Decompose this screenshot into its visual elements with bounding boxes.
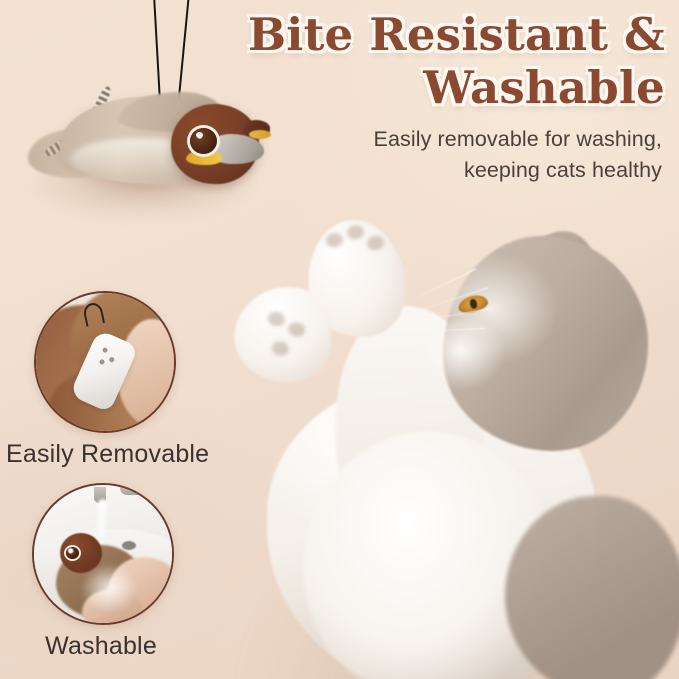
feature-image-washable: [32, 483, 174, 625]
subheadline-line-2: keeping cats healthy: [262, 155, 662, 186]
headline-line-2: Washable: [195, 62, 665, 115]
sink-drain: [122, 541, 136, 550]
product-feature-banner: Bite Resistant & Washable Easily removab…: [0, 0, 679, 679]
water-splash: [80, 563, 138, 613]
subheadline-line-1: Easily removable for washing,: [374, 127, 663, 151]
cat-photo: [215, 196, 679, 679]
toy-eye: [190, 128, 217, 154]
subheadline: Easily removable for washing, keeping ca…: [262, 124, 662, 185]
toy-eye-highlight: [196, 132, 203, 138]
faucet: [120, 483, 174, 495]
wet-toy-eye: [66, 547, 79, 559]
headline: Bite Resistant & Washable: [195, 9, 665, 114]
feature-image-easily-removable: [34, 291, 176, 433]
feature-caption: Easily Removable: [6, 440, 209, 469]
headline-line-1: Bite Resistant &: [248, 8, 665, 61]
feature-easily-removable: Easily Removable: [34, 291, 209, 469]
feature-washable: Washable: [32, 483, 174, 661]
feature-caption: Washable: [28, 632, 174, 661]
